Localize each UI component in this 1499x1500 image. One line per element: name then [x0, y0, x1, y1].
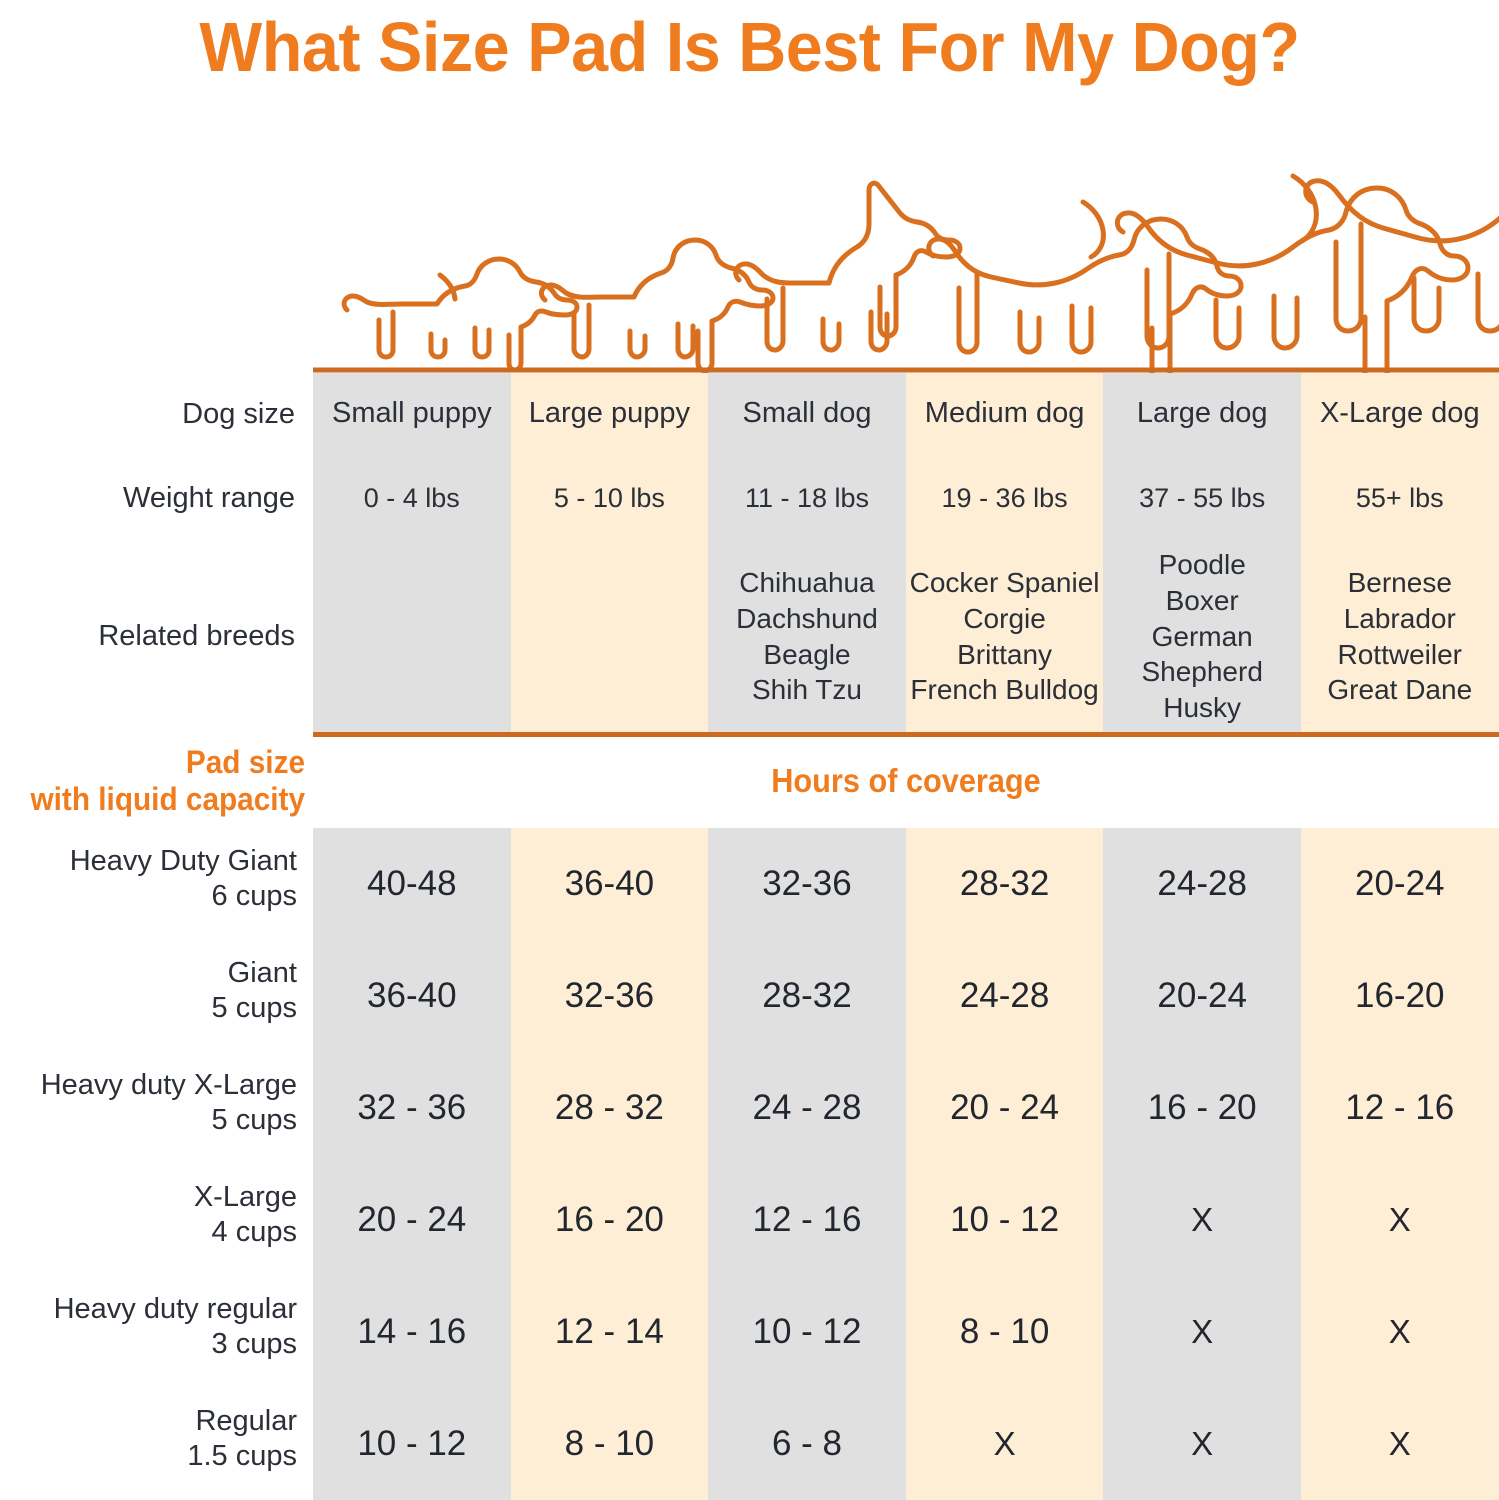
coverage-row-label: Giant5 cups [0, 940, 313, 1052]
small-puppy-silhouette [344, 259, 577, 370]
coverage-cell: 16-20 [1301, 940, 1499, 1052]
cell-breeds-small-dog: ChihuahuaDachshundBeagleShih Tzu [708, 541, 906, 732]
coverage-cell-unavailable: X [1301, 1276, 1499, 1388]
coverage-cell-unavailable: X [1103, 1276, 1301, 1388]
coverage-cell: 12 - 14 [511, 1276, 709, 1388]
coverage-cell-unavailable: X [1301, 1164, 1499, 1276]
coverage-cell: 28 - 32 [511, 1052, 709, 1164]
coverage-cell: 20-24 [1301, 828, 1499, 940]
cell-dog-size-small-dog: Small dog [708, 373, 906, 455]
coverage-cell: 10 - 12 [906, 1164, 1104, 1276]
pad-size-name: Heavy Duty Giant [0, 844, 297, 879]
coverage-row-label: Heavy Duty Giant6 cups [0, 828, 313, 940]
page-title: What Size Pad Is Best For My Dog? [37, 0, 1461, 82]
cell-dog-size-xlarge-dog: X-Large dog [1301, 373, 1499, 455]
coverage-cell: 10 - 12 [313, 1388, 511, 1500]
coverage-cell: 24-28 [906, 940, 1104, 1052]
cell-dog-size-medium-dog: Medium dog [906, 373, 1104, 455]
cell-weight-xlarge-dog: 55+ lbs [1301, 455, 1499, 541]
small-dog-silhouette [736, 183, 960, 350]
coverage-row-label: X-Large4 cups [0, 1164, 313, 1276]
coverage-row-label: Regular1.5 cups [0, 1388, 313, 1500]
cell-dog-size-large-puppy: Large puppy [511, 373, 709, 455]
pad-capacity: 5 cups [0, 1103, 297, 1138]
cell-dog-size-small-puppy: Small puppy [313, 373, 511, 455]
coverage-cell: 12 - 16 [1301, 1052, 1499, 1164]
coverage-cell: 40-48 [313, 828, 511, 940]
cell-dog-size-large-dog: Large dog [1103, 373, 1301, 455]
row-label-related-breeds: Related breeds [0, 541, 313, 732]
coverage-row-label: Heavy duty X-Large5 cups [0, 1052, 313, 1164]
coverage-cell: 20-24 [1103, 940, 1301, 1052]
cell-weight-small-puppy: 0 - 4 lbs [313, 455, 511, 541]
hours-of-coverage-heading: Hours of coverage [355, 762, 1458, 800]
dog-size-table: Dog size Small puppy Large puppy Small d… [0, 373, 1499, 732]
pad-capacity: 3 cups [0, 1327, 297, 1362]
coverage-cell: 16 - 20 [511, 1164, 709, 1276]
pad-size-name: Regular [0, 1404, 297, 1439]
pad-size-name: Heavy duty X-Large [0, 1068, 297, 1103]
coverage-cell: 6 - 8 [708, 1388, 906, 1500]
coverage-table: Heavy Duty Giant6 cups40-4836-4032-3628-… [0, 828, 1499, 1500]
pad-size-name: X-Large [0, 1180, 297, 1215]
coverage-cell: 16 - 20 [1103, 1052, 1301, 1164]
section-divider [313, 732, 1499, 737]
coverage-cell: 24 - 28 [708, 1052, 906, 1164]
coverage-cell: 20 - 24 [313, 1164, 511, 1276]
pad-capacity: 1.5 cups [0, 1439, 297, 1474]
row-label-dog-size: Dog size [0, 373, 313, 455]
xlarge-dog-silhouette [1306, 160, 1499, 361]
coverage-cell-unavailable: X [906, 1388, 1104, 1500]
cell-weight-large-puppy: 5 - 10 lbs [511, 455, 709, 541]
coverage-cell: 36-40 [511, 828, 709, 940]
coverage-cell: 14 - 16 [313, 1276, 511, 1388]
pad-size-heading-line2: with liquid capacity [21, 781, 305, 818]
coverage-cell: 12 - 16 [708, 1164, 906, 1276]
coverage-cell-unavailable: X [1301, 1388, 1499, 1500]
medium-dog-silhouette [929, 202, 1241, 373]
coverage-cell: 8 - 10 [906, 1276, 1104, 1388]
dog-silhouettes-strip [313, 160, 1499, 373]
cell-weight-medium-dog: 19 - 36 lbs [906, 455, 1104, 541]
pad-capacity: 4 cups [0, 1215, 297, 1250]
pad-capacity: 5 cups [0, 991, 297, 1026]
coverage-cell: 28-32 [708, 940, 906, 1052]
coverage-cell: 32 - 36 [313, 1052, 511, 1164]
cell-weight-large-dog: 37 - 55 lbs [1103, 455, 1301, 541]
coverage-cell: 24-28 [1103, 828, 1301, 940]
pad-size-heading: Pad size with liquid capacity [21, 744, 305, 818]
cell-breeds-xlarge-dog: BerneseLabradorRottweilerGreat Dane [1301, 541, 1499, 732]
coverage-cell: 32-36 [708, 828, 906, 940]
coverage-cell: 28-32 [906, 828, 1104, 940]
row-label-weight-range: Weight range [0, 455, 313, 541]
coverage-cell: 32-36 [511, 940, 709, 1052]
pad-size-name: Heavy duty regular [0, 1292, 297, 1327]
pad-capacity: 6 cups [0, 879, 297, 914]
coverage-row-label: Heavy duty regular3 cups [0, 1276, 313, 1388]
cell-weight-small-dog: 11 - 18 lbs [708, 455, 906, 541]
coverage-cell: 36-40 [313, 940, 511, 1052]
coverage-cell-unavailable: X [1103, 1164, 1301, 1276]
coverage-cell: 10 - 12 [708, 1276, 906, 1388]
pad-size-name: Giant [0, 956, 297, 991]
coverage-cell-unavailable: X [1103, 1388, 1301, 1500]
cell-breeds-large-puppy [511, 541, 709, 732]
pad-size-heading-line1: Pad size [21, 744, 305, 781]
cell-breeds-medium-dog: Cocker SpanielCorgieBrittanyFrench Bulld… [906, 541, 1104, 732]
coverage-cell: 20 - 24 [906, 1052, 1104, 1164]
coverage-cell: 8 - 10 [511, 1388, 709, 1500]
cell-breeds-small-puppy [313, 541, 511, 732]
cell-breeds-large-dog: PoodleBoxerGermanShepherdHusky [1103, 541, 1301, 732]
